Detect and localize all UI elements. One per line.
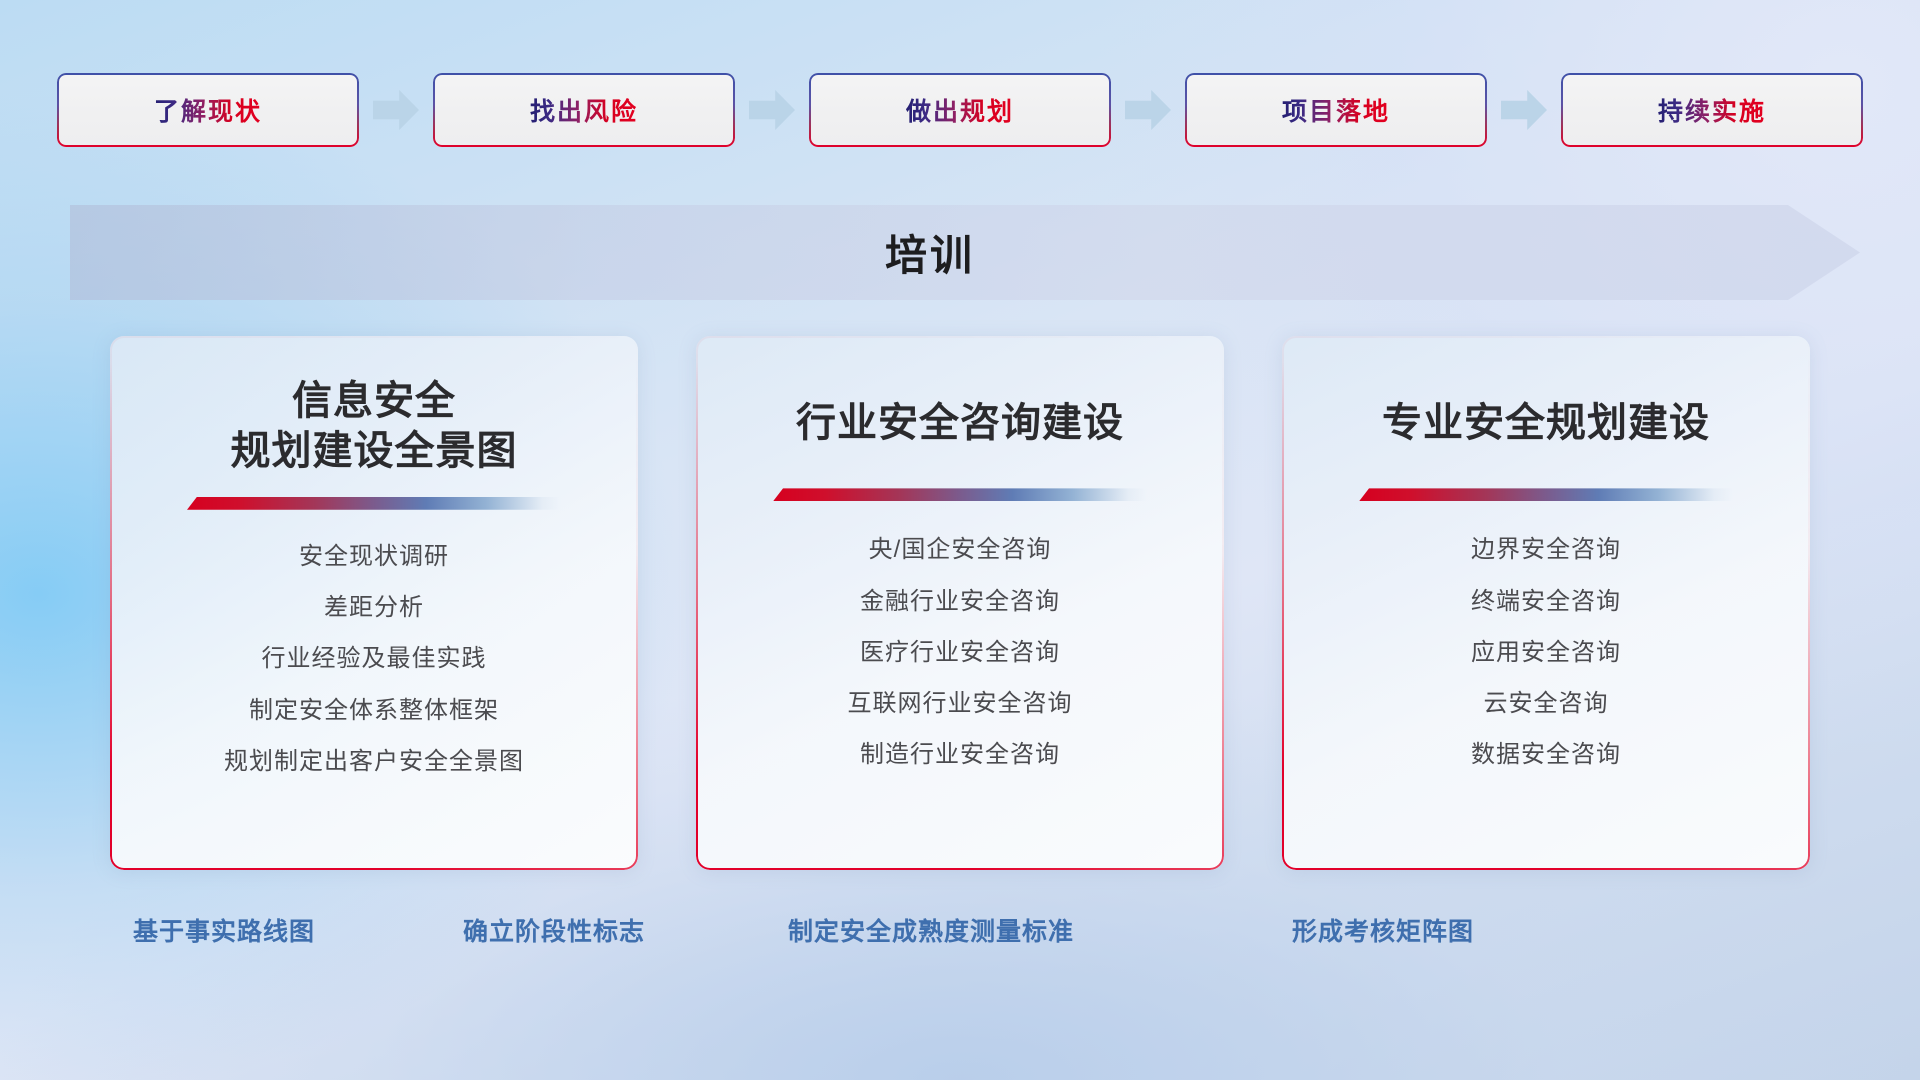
arrow-right-icon [373, 90, 419, 130]
step-box-3[interactable]: 做出规划 [809, 73, 1111, 147]
list-item: 安全现状调研 [299, 536, 449, 577]
list-item: 金融行业安全咨询 [860, 581, 1060, 622]
list-item: 医疗行业安全咨询 [860, 632, 1060, 673]
list-item: 央/国企安全咨询 [869, 529, 1052, 570]
footnote-2: 确立阶段性标志 [463, 912, 645, 948]
card-item-list: 央/国企安全咨询 金融行业安全咨询 医疗行业安全咨询 互联网行业安全咨询 制造行… [848, 529, 1073, 775]
list-item: 应用安全咨询 [1471, 632, 1621, 673]
step-label: 找出风险 [530, 92, 638, 128]
list-item: 边界安全咨询 [1471, 529, 1621, 570]
card-title: 行业安全咨询建设 [796, 398, 1124, 448]
step-box-5[interactable]: 持续实施 [1561, 73, 1863, 147]
card-industry-security-consulting[interactable]: 行业安全咨询建设 央/国企安全咨询 金融行业安全咨询 医疗行业安全咨询 互联网行… [696, 336, 1224, 870]
card-information-security-blueprint[interactable]: 信息安全 规划建设全景图 安全现状调研 差距分析 行业经验及最佳实践 制定安全体… [110, 336, 638, 870]
training-banner-title: 培训 [0, 204, 1860, 300]
step-box-4[interactable]: 项目落地 [1185, 73, 1487, 147]
arrow-right-icon [1501, 90, 1547, 130]
step-label: 持续实施 [1658, 92, 1766, 128]
list-item: 制造行业安全咨询 [860, 734, 1060, 775]
card-item-list: 安全现状调研 差距分析 行业经验及最佳实践 制定安全体系整体框架 规划制定出客户… [224, 536, 524, 782]
card-row: 信息安全 规划建设全景图 安全现状调研 差距分析 行业经验及最佳实践 制定安全体… [0, 336, 1920, 870]
footnote-3: 制定安全成熟度测量标准 [788, 912, 1074, 948]
list-item: 终端安全咨询 [1471, 581, 1621, 622]
list-item: 行业经验及最佳实践 [262, 638, 487, 679]
step-box-2[interactable]: 找出风险 [433, 73, 735, 147]
card-item-list: 边界安全咨询 终端安全咨询 应用安全咨询 云安全咨询 数据安全咨询 [1471, 529, 1621, 775]
list-item: 数据安全咨询 [1471, 734, 1621, 775]
footnote-row: 基于事实路线图 确立阶段性标志 制定安全成熟度测量标准 形成考核矩阵图 [0, 912, 1920, 956]
card-divider [773, 488, 1147, 501]
step-label: 了解现状 [154, 92, 262, 128]
step-box-1[interactable]: 了解现状 [57, 73, 359, 147]
footnote-1: 基于事实路线图 [133, 912, 315, 948]
footnote-4: 形成考核矩阵图 [1292, 912, 1474, 948]
list-item: 规划制定出客户安全全景图 [224, 741, 524, 782]
list-item: 互联网行业安全咨询 [848, 683, 1073, 724]
card-professional-security-planning[interactable]: 专业安全规划建设 边界安全咨询 终端安全咨询 应用安全咨询 云安全咨询 数据安全… [1282, 336, 1810, 870]
step-label: 项目落地 [1282, 92, 1390, 128]
list-item: 制定安全体系整体框架 [249, 690, 499, 731]
step-label: 做出规划 [906, 92, 1014, 128]
card-title: 专业安全规划建设 [1382, 398, 1710, 448]
card-title: 信息安全 规划建设全景图 [231, 376, 518, 477]
list-item: 差距分析 [324, 587, 424, 628]
list-item: 云安全咨询 [1484, 683, 1609, 724]
arrow-right-icon [749, 90, 795, 130]
process-step-row: 了解现状 找出风险 做出规划 项目落地 持续实施 [0, 72, 1920, 148]
arrow-right-icon [1125, 90, 1171, 130]
card-divider [187, 497, 561, 510]
card-divider [1359, 488, 1733, 501]
